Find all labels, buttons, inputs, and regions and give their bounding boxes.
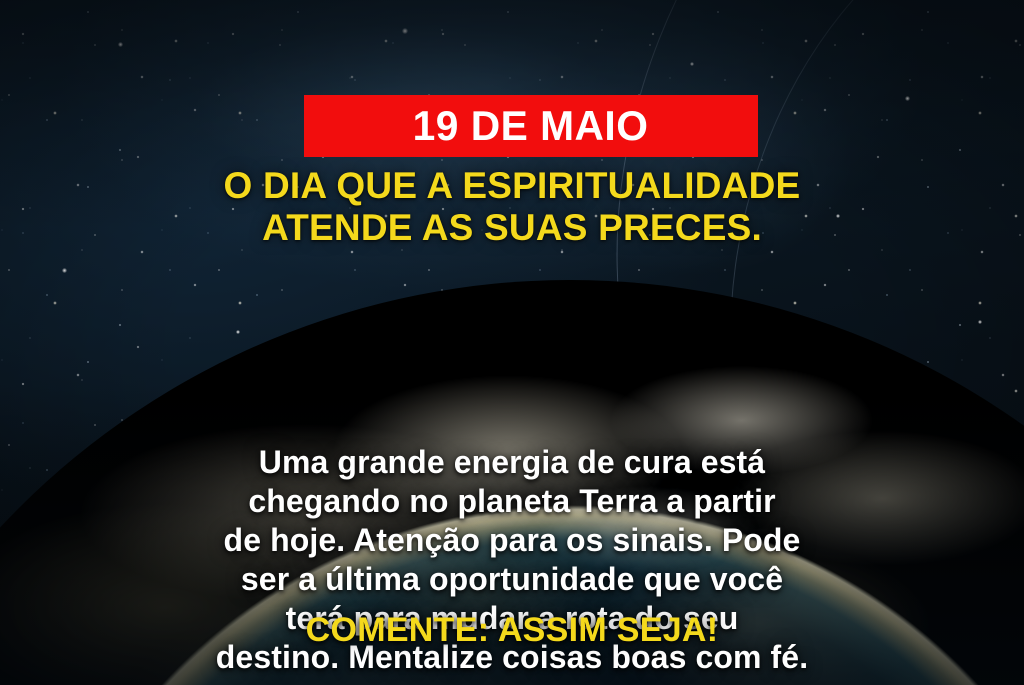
headline-line-1: O DIA QUE A ESPIRITUALIDADE <box>0 165 1024 207</box>
body-line-1: Uma grande energia de cura está <box>0 443 1024 482</box>
headline-line-2: ATENDE AS SUAS PRECES. <box>0 207 1024 249</box>
headline: O DIA QUE A ESPIRITUALIDADE ATENDE AS SU… <box>0 165 1024 249</box>
date-banner-label: 19 DE MAIO <box>413 105 649 147</box>
body-line-4: ser a última oportunidade que você <box>0 560 1024 599</box>
poster-content: 19 DE MAIO O DIA QUE A ESPIRITUALIDADE A… <box>0 0 1024 685</box>
date-banner: 19 DE MAIO <box>304 95 758 157</box>
poster-canvas: 19 DE MAIO O DIA QUE A ESPIRITUALIDADE A… <box>0 0 1024 685</box>
body-line-2: chegando no planeta Terra a partir <box>0 482 1024 521</box>
body-line-3: de hoje. Atenção para os sinais. Pode <box>0 521 1024 560</box>
call-to-action: COMENTE: ASSIM SEJA! <box>0 612 1024 649</box>
